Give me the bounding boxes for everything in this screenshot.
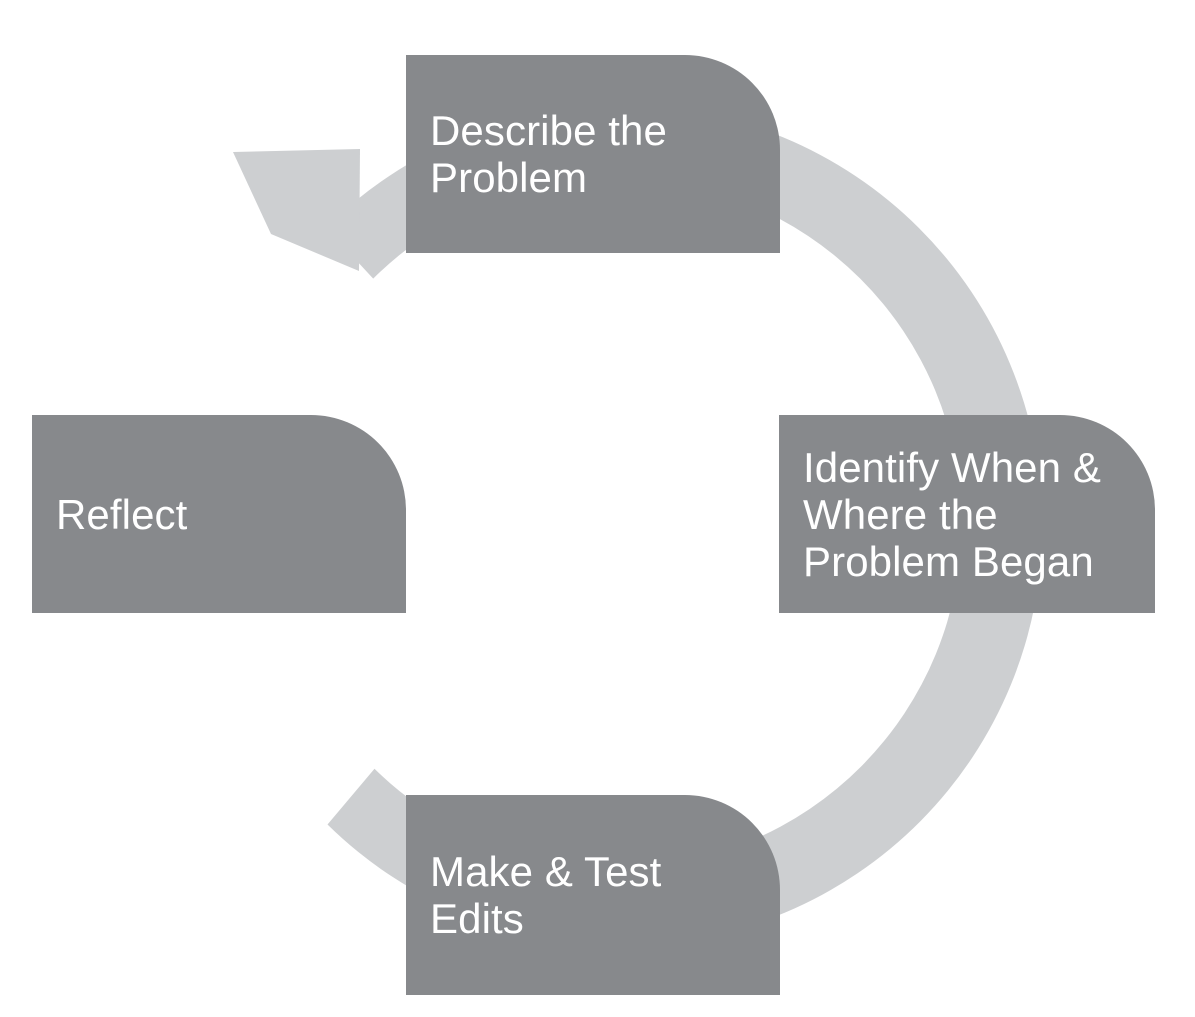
cycle-node-reflect[interactable]: Reflect (32, 415, 406, 613)
cycle-node-describe-the-problem[interactable]: Describe the Problem (406, 55, 780, 253)
cycle-node-label: Identify When & Where the Problem Began (803, 444, 1101, 585)
cycle-node-label: Describe the Problem (430, 107, 667, 201)
cycle-arrowhead-icon (233, 149, 360, 271)
cycle-node-label: Make & Test Edits (430, 848, 661, 942)
cycle-node-identify-when-and-where-the-problem-began[interactable]: Identify When & Where the Problem Began (779, 415, 1155, 613)
cycle-node-label: Reflect (56, 491, 187, 538)
cycle-diagram-canvas: Describe the Problem Identify When & Whe… (0, 0, 1195, 1017)
cycle-node-make-and-test-edits[interactable]: Make & Test Edits (406, 795, 780, 995)
arrowhead-group (233, 149, 360, 271)
